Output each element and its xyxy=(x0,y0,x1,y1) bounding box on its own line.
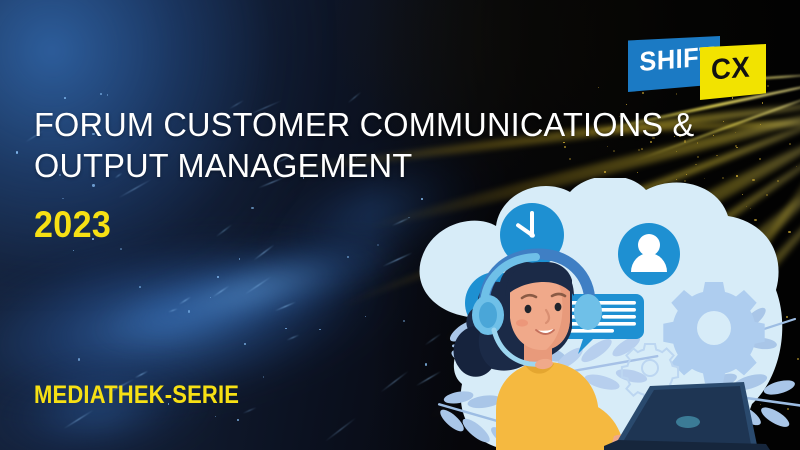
banner-canvas: SHIFT CX FORUM CUSTOMER COMMUNICATIONS &… xyxy=(0,0,800,450)
background-dust-particle xyxy=(239,258,240,259)
background-dust-particle xyxy=(120,248,122,250)
background-dust-particle xyxy=(139,286,141,288)
background-dust-particle xyxy=(64,97,66,99)
banner-title: FORUM CUSTOMER COMMUNICATIONS & OUTPUT M… xyxy=(34,105,704,187)
background-dust-particle xyxy=(285,328,287,330)
gold-dust-particle xyxy=(736,175,738,177)
background-dust-particle xyxy=(73,250,74,251)
gold-dust-particle xyxy=(759,158,760,159)
background-dust-particle xyxy=(16,151,19,154)
logo-word-cx: CX xyxy=(711,53,750,85)
banner-kicker: MEDIATHEK-SERIE xyxy=(34,383,239,408)
user-avatar-icon xyxy=(618,223,680,285)
background-dust-particle xyxy=(78,358,80,360)
shift-cx-logo[interactable]: SHIFT CX xyxy=(628,26,768,98)
banner-year: 2023 xyxy=(34,206,111,243)
customer-service-agent-illustration xyxy=(418,178,800,450)
background-dust-particle xyxy=(251,207,253,209)
gold-dust-particle xyxy=(789,143,791,145)
